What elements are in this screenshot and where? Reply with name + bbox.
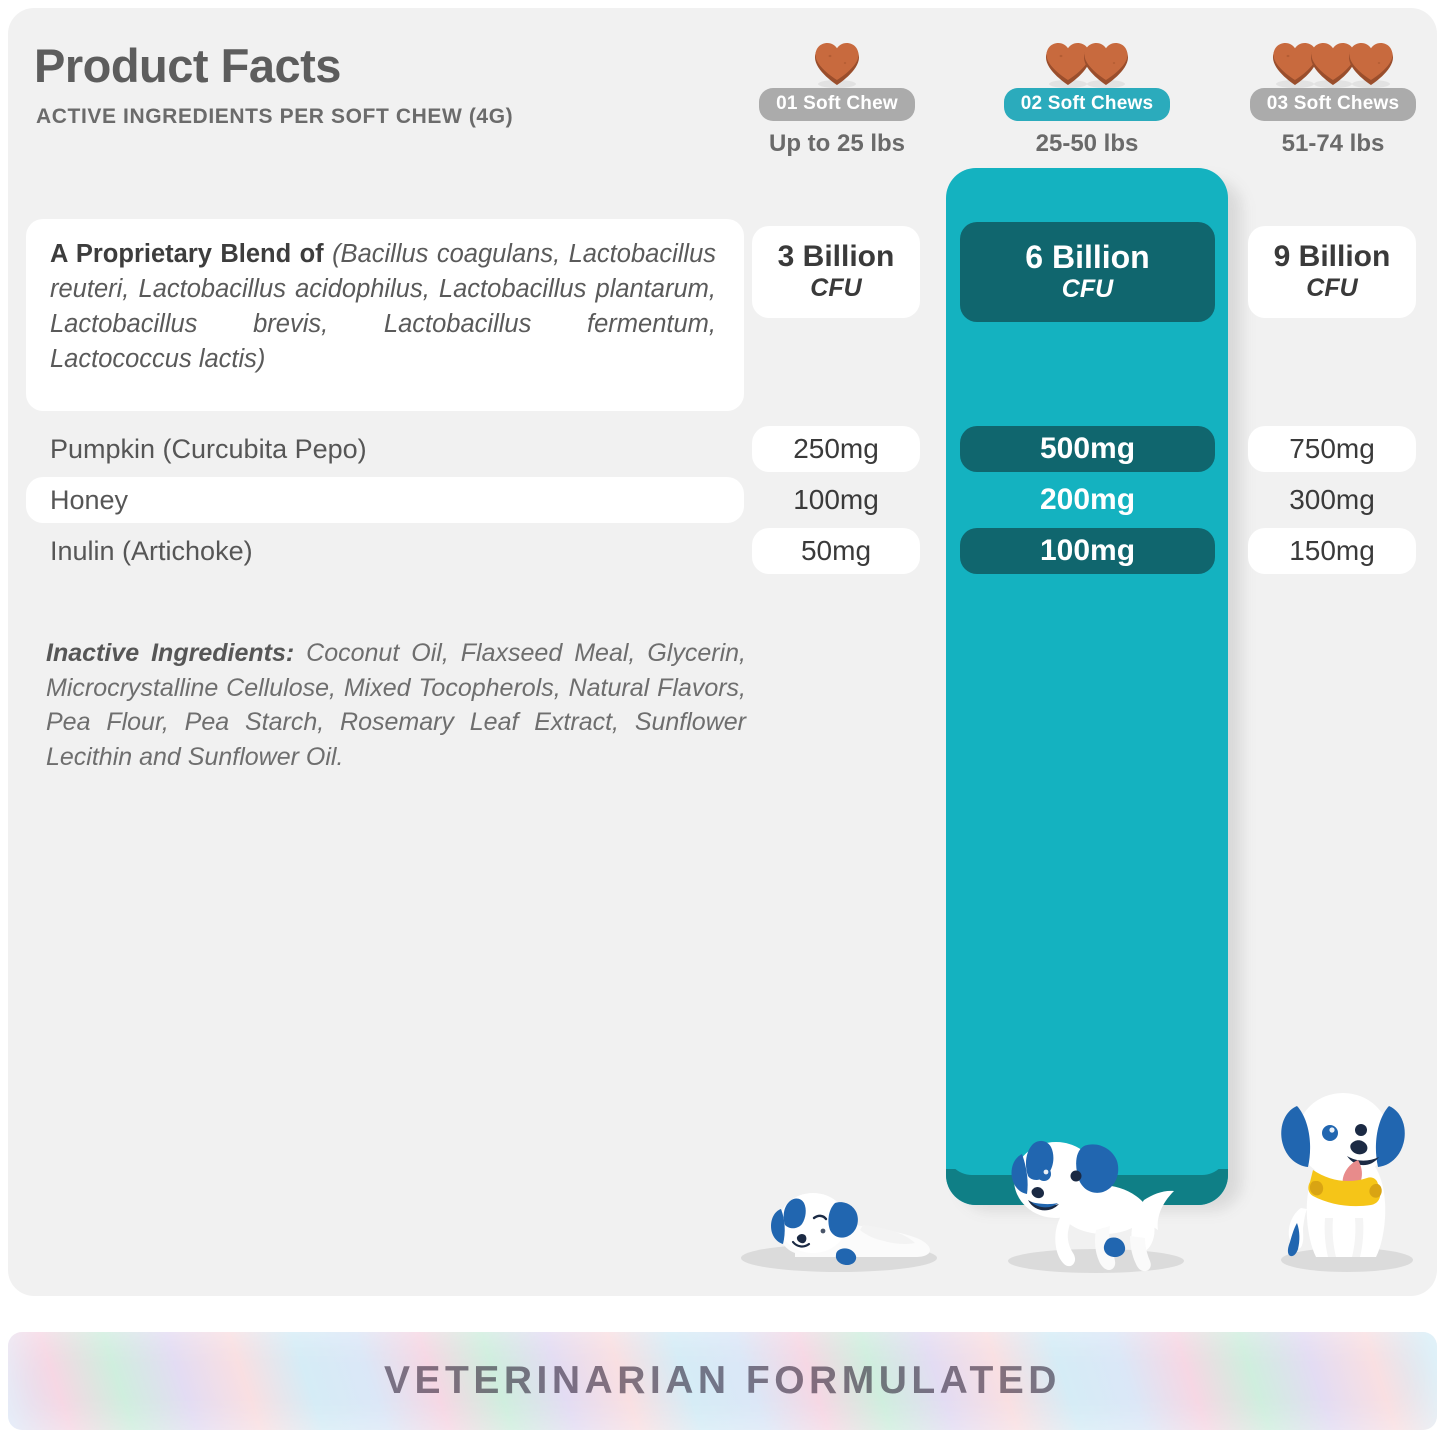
value-honey-col2: 200mg xyxy=(960,477,1215,523)
veterinarian-formulated-banner: VETERINARIAN FORMULATED xyxy=(8,1332,1437,1430)
ingredient-name-pumpkin: Pumpkin (Curcubita Pepo) xyxy=(26,426,744,472)
page-subtitle: ACTIVE INGREDIENTS PER SOFT CHEW (4G) xyxy=(36,105,513,129)
dosage-column-header-2[interactable]: 02 Soft Chews 25-50 lbs xyxy=(972,18,1202,158)
ingredient-name-inulin: Inulin (Artichoke) xyxy=(26,528,744,574)
ingredient-name-honey: Honey xyxy=(26,477,744,523)
value-inulin-col3: 150mg xyxy=(1248,528,1416,574)
dosage-weight-range: Up to 25 lbs xyxy=(722,130,952,158)
value-pumpkin-col2: 500mg xyxy=(960,426,1215,472)
value-inulin-col2: 100mg xyxy=(960,528,1215,574)
value-amount: 250mg xyxy=(793,435,879,463)
dog-sitting-icon xyxy=(1255,1078,1430,1278)
dosage-column-header-3[interactable]: 03 Soft Chews 51-74 lbs xyxy=(1218,18,1445,158)
page-title: Product Facts xyxy=(34,38,341,93)
value-inulin-col1: 50mg xyxy=(752,528,920,574)
chew-icon-group-2 xyxy=(972,18,1202,88)
value-amount: 100mg xyxy=(793,486,879,514)
banner-text: VETERINARIAN FORMULATED xyxy=(384,1359,1061,1403)
value-unit: CFU xyxy=(1062,275,1113,304)
dosage-weight-range: 51-74 lbs xyxy=(1218,130,1445,158)
value-amount: 200mg xyxy=(1040,485,1135,515)
value-amount: 300mg xyxy=(1289,486,1375,514)
ingredient-label: Pumpkin (Curcubita Pepo) xyxy=(50,434,367,465)
product-facts-page: Product Facts ACTIVE INGREDIENTS PER SOF… xyxy=(0,0,1445,1438)
value-pumpkin-col3: 750mg xyxy=(1248,426,1416,472)
value-amount: 150mg xyxy=(1289,537,1375,565)
value-honey-col3: 300mg xyxy=(1248,477,1416,523)
dosage-badge: 01 Soft Chew xyxy=(759,88,915,121)
dosage-badge: 03 Soft Chews xyxy=(1250,88,1416,121)
inactive-ingredients-text: Inactive Ingredients: Coconut Oil, Flaxs… xyxy=(46,636,746,774)
chew-icon-group-3 xyxy=(1218,18,1445,88)
dog-lying-icon xyxy=(735,1165,945,1275)
value-cfu-col1: 3 Billion CFU xyxy=(752,226,920,318)
value-amount: 9 Billion xyxy=(1274,241,1391,273)
dosage-weight-range: 25-50 lbs xyxy=(972,130,1202,158)
value-amount: 750mg xyxy=(1289,435,1375,463)
dog-walking-icon xyxy=(984,1118,1204,1278)
value-unit: CFU xyxy=(1306,274,1357,303)
value-cfu-col3: 9 Billion CFU xyxy=(1248,226,1416,318)
proprietary-blend-text: A Proprietary Blend of (Bacillus coagula… xyxy=(50,237,716,377)
proprietary-blend-card: A Proprietary Blend of (Bacillus coagula… xyxy=(26,219,744,411)
value-amount: 100mg xyxy=(1040,536,1135,566)
value-amount: 500mg xyxy=(1040,434,1135,464)
value-amount: 3 Billion xyxy=(778,241,895,273)
value-cfu-col2: 6 Billion CFU xyxy=(960,222,1215,322)
value-amount: 6 Billion xyxy=(1025,240,1149,275)
dosage-badge: 02 Soft Chews xyxy=(1004,88,1170,121)
dosage-column-header-1[interactable]: 01 Soft Chew Up to 25 lbs xyxy=(722,18,952,158)
highlight-column xyxy=(946,168,1228,1205)
value-honey-col1: 100mg xyxy=(752,477,920,523)
heart-chew-icon xyxy=(1080,40,1132,88)
value-unit: CFU xyxy=(810,274,861,303)
chew-icon-group-1 xyxy=(722,18,952,88)
ingredient-label: Inulin (Artichoke) xyxy=(50,536,253,567)
inactive-label: Inactive Ingredients: xyxy=(46,639,294,667)
blend-label: A Proprietary Blend of xyxy=(50,240,324,268)
ingredient-label: Honey xyxy=(50,485,128,516)
heart-chew-icon xyxy=(811,40,863,88)
heart-chew-icon xyxy=(1345,40,1397,88)
value-amount: 50mg xyxy=(801,537,871,565)
value-pumpkin-col1: 250mg xyxy=(752,426,920,472)
